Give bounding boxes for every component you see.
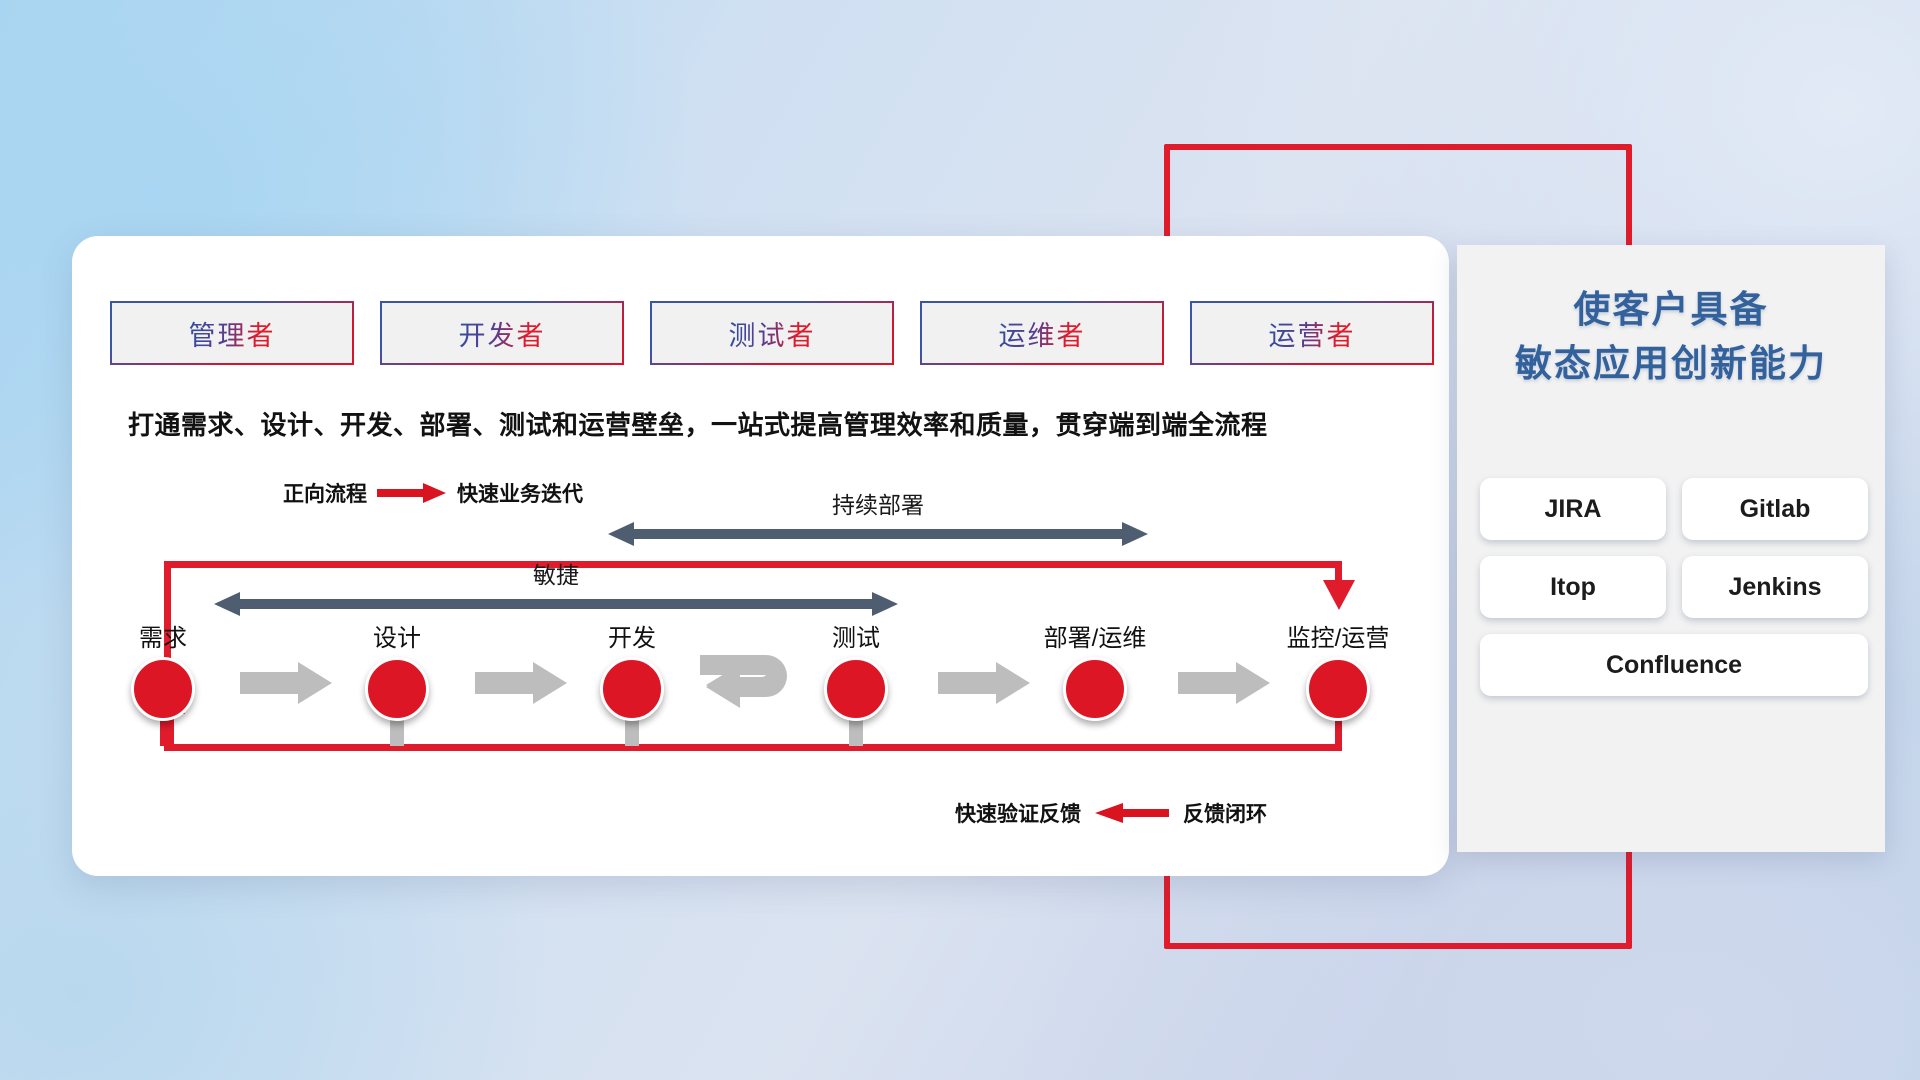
right-panel-title-line1: 使客户具备 bbox=[1457, 283, 1885, 337]
forward-flow-legend: 正向流程 快速业务迭代 bbox=[283, 478, 583, 508]
flow-arrow-3 bbox=[938, 662, 1030, 704]
role-box-manager[interactable]: 管理者 bbox=[110, 301, 354, 365]
pipeline-stage-requirement[interactable]: 需求 bbox=[108, 618, 218, 721]
tool-label: Jenkins bbox=[1728, 573, 1821, 602]
role-label: 运营者 bbox=[1269, 314, 1356, 353]
feedback-legend: 快速验证反馈 反馈闭环 bbox=[955, 798, 1267, 828]
stage-label: 监控/运营 bbox=[1283, 618, 1393, 653]
left-arrow-icon bbox=[1095, 802, 1169, 824]
tool-label: Confluence bbox=[1606, 651, 1742, 680]
right-panel-title: 使客户具备 敏态应用创新能力 bbox=[1457, 283, 1885, 390]
tool-chip-confluence[interactable]: Confluence bbox=[1480, 634, 1868, 696]
role-box-developer[interactable]: 开发者 bbox=[380, 301, 624, 365]
stage-label: 需求 bbox=[108, 618, 218, 653]
red-loop-arrowhead-down bbox=[1323, 580, 1355, 610]
right-arrow-icon bbox=[377, 482, 447, 504]
tool-chip-itop[interactable]: Itop bbox=[1480, 556, 1666, 618]
role-label: 测试者 bbox=[729, 314, 816, 353]
stage-label: 测试 bbox=[801, 618, 911, 653]
feedback-loop-label: 反馈闭环 bbox=[1183, 798, 1267, 828]
description-text: 打通需求、设计、开发、部署、测试和运营壁垒，一站式提高管理效率和质量，贯穿端到端… bbox=[128, 405, 1268, 442]
stage-label: 部署/运维 bbox=[1040, 618, 1150, 653]
role-label: 管理者 bbox=[189, 314, 276, 353]
stage-dot bbox=[365, 657, 429, 721]
forward-flow-label: 正向流程 bbox=[283, 478, 367, 508]
continuous-deploy-label: 持续部署 bbox=[608, 486, 1148, 520]
stage-label: 设计 bbox=[342, 618, 452, 653]
iteration-loop-arrow bbox=[700, 655, 804, 713]
pipeline-stage-deploy-ops[interactable]: 部署/运维 bbox=[1040, 618, 1150, 721]
pipeline-stage-design[interactable]: 设计 bbox=[342, 618, 452, 721]
pipeline-stage-monitor-operate[interactable]: 监控/运营 bbox=[1283, 618, 1393, 721]
role-box-row: 管理者 开发者 测试者 运维者 运营者 bbox=[110, 301, 1434, 365]
tool-chip-jira[interactable]: JIRA bbox=[1480, 478, 1666, 540]
slide-canvas: 管理者 开发者 测试者 运维者 运营者 打通需求、设计、开发、部署、测试和运营壁… bbox=[0, 0, 1920, 1080]
role-box-operator[interactable]: 运营者 bbox=[1190, 301, 1434, 365]
stage-dot bbox=[1063, 657, 1127, 721]
tool-chip-jenkins[interactable]: Jenkins bbox=[1682, 556, 1868, 618]
feedback-result-label: 快速验证反馈 bbox=[955, 798, 1081, 828]
tool-label: JIRA bbox=[1545, 495, 1602, 524]
pipeline-stage-develop[interactable]: 开发 bbox=[577, 618, 687, 721]
forward-flow-result: 快速业务迭代 bbox=[457, 478, 583, 508]
role-label: 运维者 bbox=[999, 314, 1086, 353]
tool-chip-list: JIRA Gitlab Itop Jenkins Confluence bbox=[1480, 478, 1868, 696]
tool-label: Gitlab bbox=[1740, 495, 1811, 524]
pipeline-stage-test[interactable]: 测试 bbox=[801, 618, 911, 721]
stage-dot bbox=[824, 657, 888, 721]
agile-span: 敏捷 bbox=[214, 592, 898, 616]
agile-label: 敏捷 bbox=[214, 556, 898, 590]
double-arrow-icon bbox=[214, 592, 898, 616]
stage-dot bbox=[600, 657, 664, 721]
flow-arrow-1 bbox=[240, 662, 332, 704]
double-arrow-icon bbox=[608, 522, 1148, 546]
tool-label: Itop bbox=[1550, 573, 1596, 602]
flow-arrow-4 bbox=[1178, 662, 1270, 704]
flow-arrow-2 bbox=[475, 662, 567, 704]
tool-chip-gitlab[interactable]: Gitlab bbox=[1682, 478, 1868, 540]
red-loop-bottom bbox=[164, 744, 1342, 751]
stage-dot bbox=[131, 657, 195, 721]
right-panel-title-line2: 敏态应用创新能力 bbox=[1457, 337, 1885, 391]
role-label: 开发者 bbox=[459, 314, 546, 353]
stage-label: 开发 bbox=[577, 618, 687, 653]
continuous-deploy-span: 持续部署 bbox=[608, 522, 1148, 546]
role-box-tester[interactable]: 测试者 bbox=[650, 301, 894, 365]
stage-dot bbox=[1306, 657, 1370, 721]
role-box-ops[interactable]: 运维者 bbox=[920, 301, 1164, 365]
